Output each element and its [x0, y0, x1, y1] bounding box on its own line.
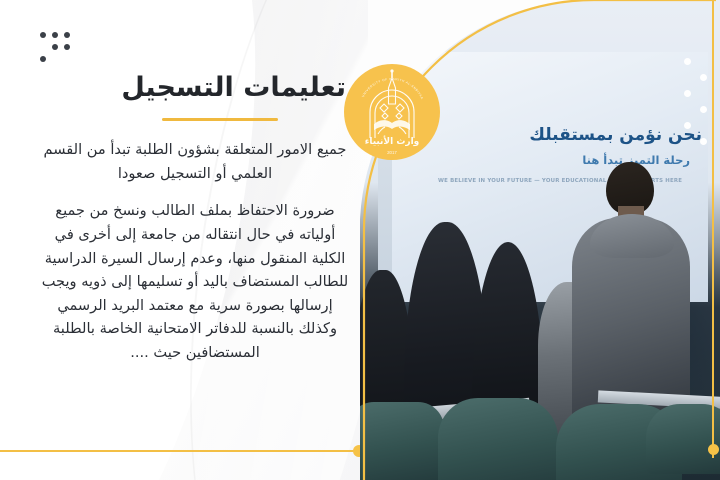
warith-al-anbiyaa-seal-icon: UNIVERSITY OF WARITH AL-ANBIYAA وارث الأ…: [344, 64, 440, 160]
chair-4: [646, 404, 720, 474]
gold-divider-line: [0, 450, 360, 452]
seal-arabic-name: وارث الأنبياء: [365, 135, 420, 147]
banner-headline-arabic: نحن نؤمن بمستقبلك: [402, 125, 702, 145]
gold-connector-dot-3: [708, 444, 719, 455]
dots-grid-icon: [40, 32, 76, 68]
university-logo-badge[interactable]: UNIVERSITY OF WARITH AL-ANBIYAA وارث الأ…: [344, 64, 440, 160]
chair-1: [360, 402, 444, 480]
svg-text:UNIVERSITY OF WARITH AL-ANBIYA: UNIVERSITY OF WARITH AL-ANBIYAA: [361, 77, 425, 101]
paragraph-1: جميع الامور المتعلقة بشؤون الطلبة تبدأ م…: [40, 138, 350, 185]
gold-connector-right: [712, 0, 714, 458]
page-title: تعليمات التسجيل: [46, 72, 346, 103]
poster-canvas: تعليمات التسجيل جميع الامور المتعلقة بشؤ…: [0, 0, 720, 480]
paragraph-2: ضرورة الاحتفاظ بملف الطالب ونسخ من جميع …: [40, 199, 350, 364]
left-content-panel: تعليمات التسجيل جميع الامور المتعلقة بشؤ…: [0, 0, 368, 480]
chair-2: [438, 398, 558, 480]
seal-year: 2017: [387, 150, 397, 155]
body-text-block: جميع الامور المتعلقة بشؤون الطلبة تبدأ م…: [40, 138, 350, 365]
title-underline: [162, 118, 278, 121]
seal-ring-text: UNIVERSITY OF WARITH AL-ANBIYAA: [361, 77, 425, 101]
